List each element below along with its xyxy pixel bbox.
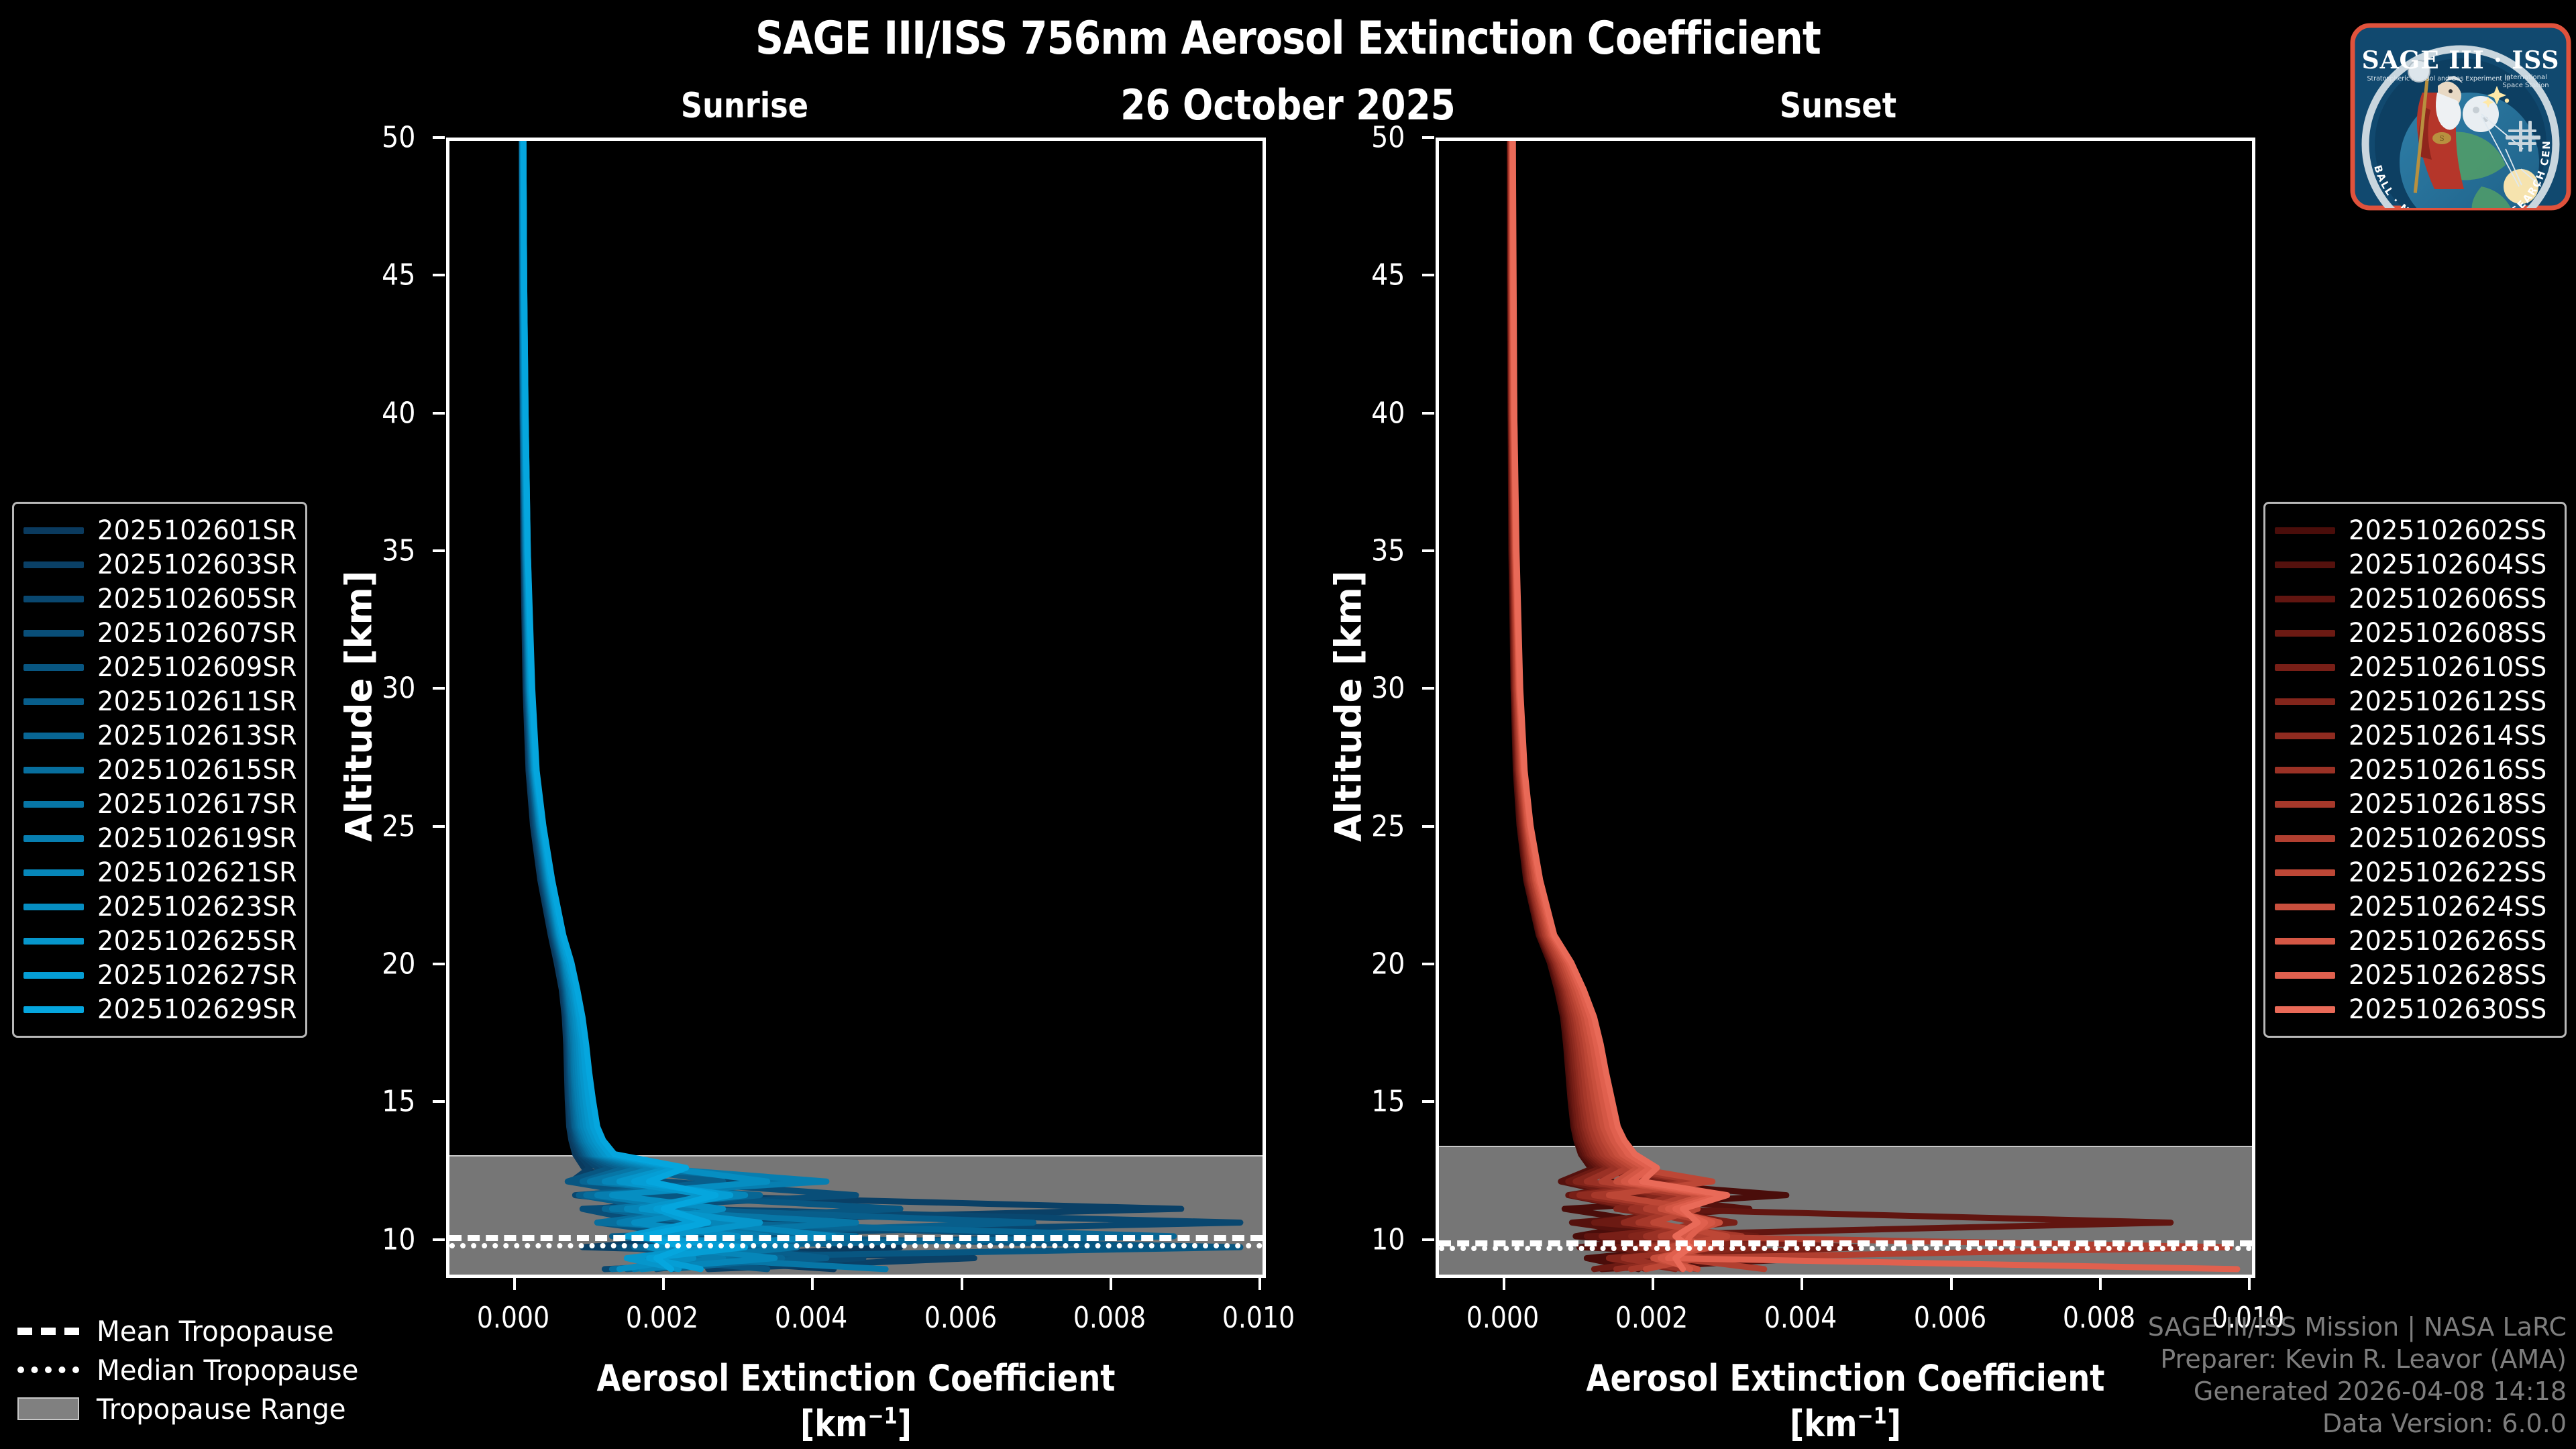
legend-color-swatch (2275, 767, 2335, 773)
x-tick-label: 0.010 (1195, 1301, 1322, 1335)
legend-event-label: 2025102626SS (2349, 926, 2547, 957)
profile-line (1512, 141, 1727, 1269)
profile-line (522, 141, 1181, 1269)
x-tick-label: 0.006 (897, 1301, 1024, 1335)
y-tick-mark (433, 136, 445, 139)
legend-sunset-item[interactable]: 2025102624SS (2275, 890, 2553, 924)
legend-color-swatch (23, 767, 84, 773)
legend-event-label: 2025102628SS (2349, 960, 2547, 991)
legend-item-median-tropopause: Median Tropopause (17, 1350, 366, 1389)
credits-block: SAGE III/ISS Mission | NASA LaRC Prepare… (2148, 1311, 2567, 1440)
y-axis-label: Altitude [km] (338, 574, 380, 842)
x-tick-label: 0.004 (1737, 1301, 1864, 1335)
legend-event-label: 2025102601SR (97, 515, 297, 546)
svg-text:International: International (2504, 74, 2547, 81)
legend-event-label: 2025102607SR (97, 618, 297, 649)
y-tick-mark (1422, 963, 1434, 965)
legend-color-swatch (23, 835, 84, 842)
y-tick-label: 20 (1315, 947, 1405, 981)
legend-sunrise-item[interactable]: 2025102615SR (23, 753, 293, 787)
y-tick-label: 20 (325, 947, 416, 981)
profile-line (522, 141, 1108, 1269)
legend-color-swatch (2275, 801, 2335, 808)
profile-line (1513, 141, 2237, 1269)
legend-event-label: 2025102609SR (97, 652, 297, 683)
y-tick-mark (1422, 825, 1434, 828)
plot-panel-sunrise (446, 138, 1266, 1278)
legend-color-swatch (2275, 596, 2335, 602)
legend-sunrise-item[interactable]: 2025102627SR (23, 958, 293, 992)
legend-sunrise-item[interactable]: 2025102601SR (23, 513, 293, 547)
legend-sunrise-item[interactable]: 2025102603SR (23, 547, 293, 582)
mission-patch-icon: S SAGE III · ISS Stratospheric Aerosol a… (2350, 7, 2571, 228)
legend-sunrise-item[interactable]: 2025102611SR (23, 684, 293, 718)
profile-line (1511, 141, 1742, 1269)
x-axis-label: Aerosol Extinction Coefficient (504, 1357, 1209, 1399)
profile-line (523, 141, 767, 1269)
legend-color-swatch (23, 1006, 84, 1013)
plot-panel-sunset (1436, 138, 2255, 1278)
y-tick-label: 45 (325, 258, 416, 292)
svg-text:Stratospheric Aerosol and Gas: Stratospheric Aerosol and Gas Experiment… (2367, 75, 2510, 83)
y-tick-mark (433, 274, 445, 276)
legend-event-label: 2025102624SS (2349, 892, 2547, 922)
credits-line-mission: SAGE III/ISS Mission | NASA LaRC (2148, 1311, 2567, 1343)
profile-line (523, 141, 715, 1269)
profile-line (523, 141, 760, 1269)
y-tick-mark (433, 687, 445, 690)
legend-sunrise-item[interactable]: 2025102623SR (23, 890, 293, 924)
y-tick-mark (1422, 1100, 1434, 1103)
y-tick-label: 10 (325, 1222, 416, 1256)
x-tick-mark (2099, 1278, 2102, 1290)
x-tick-label: 0.008 (1046, 1301, 1173, 1335)
y-tick-label: 40 (325, 396, 416, 430)
legend-sunset[interactable]: 2025102602SS2025102604SS2025102606SS2025… (2263, 502, 2567, 1038)
y-tick-mark (433, 1100, 445, 1103)
legend-event-label: 2025102627SR (97, 960, 297, 991)
y-tick-mark (433, 549, 445, 552)
legend-sunrise-item[interactable]: 2025102613SR (23, 718, 293, 753)
legend-color-swatch (2275, 527, 2335, 534)
x-tick-label: 0.002 (599, 1301, 726, 1335)
legend-label-tropopause-range: Tropopause Range (97, 1393, 346, 1426)
legend-color-swatch (2275, 664, 2335, 671)
legend-event-label: 2025102623SR (97, 892, 297, 922)
legend-sunrise[interactable]: 2025102601SR2025102603SR2025102605SR2025… (12, 502, 307, 1038)
legend-event-label: 2025102629SR (97, 994, 297, 1025)
y-tick-mark (1422, 549, 1434, 552)
legend-event-label: 2025102612SS (2349, 686, 2547, 717)
legend-sunset-item[interactable]: 2025102604SS (2275, 547, 2553, 582)
x-axis-units-prefix: [km (1790, 1403, 1857, 1445)
legend-event-label: 2025102611SR (97, 686, 297, 717)
legend-sunset-item[interactable]: 2025102614SS (2275, 718, 2553, 753)
legend-sunset-item[interactable]: 2025102622SS (2275, 855, 2553, 890)
y-tick-mark (1422, 1238, 1434, 1241)
sage-iii-iss-logo: S SAGE III · ISS Stratospheric Aerosol a… (2350, 7, 2571, 228)
legend-event-label: 2025102615SR (97, 755, 297, 786)
legend-sunrise-item[interactable]: 2025102605SR (23, 582, 293, 616)
legend-sunrise-item[interactable]: 2025102607SR (23, 616, 293, 650)
legend-sunrise-item[interactable]: 2025102609SR (23, 650, 293, 684)
legend-color-swatch (2275, 972, 2335, 979)
y-tick-label: 50 (325, 121, 416, 155)
x-tick-mark (1503, 1278, 1505, 1290)
y-tick-label: 35 (1315, 533, 1405, 568)
panel-title-sunrise: Sunrise (641, 86, 849, 126)
x-tick-label: 0.002 (1589, 1301, 1715, 1335)
x-tick-label: 0.000 (449, 1301, 576, 1335)
profile-line (522, 141, 1033, 1269)
credits-line-preparer: Preparer: Kevin R. Leavor (AMA) (2148, 1343, 2567, 1375)
profile-lines-sunrise (449, 141, 1263, 1275)
dotted-line-icon (17, 1366, 82, 1373)
legend-sunrise-item[interactable]: 2025102621SR (23, 855, 293, 890)
legend-event-label: 2025102613SR (97, 720, 297, 751)
profile-line (1511, 141, 1727, 1269)
page-title: SAGE III/ISS 756nm Aerosol Extinction Co… (180, 12, 2396, 65)
x-tick-mark (1258, 1278, 1261, 1290)
y-tick-label: 40 (1315, 396, 1405, 430)
legend-sunset-item[interactable]: 2025102608SS (2275, 616, 2553, 650)
legend-event-label: 2025102602SS (2349, 515, 2547, 546)
y-tick-label: 10 (1315, 1222, 1405, 1256)
legend-color-swatch (2275, 698, 2335, 705)
profile-line (1512, 141, 1720, 1269)
svg-text:S: S (2439, 134, 2445, 143)
legend-color-swatch (23, 733, 84, 739)
legend-sunset-item[interactable]: 2025102628SS (2275, 958, 2553, 992)
mean-tropopause-line-left (449, 1235, 1263, 1241)
legend-color-swatch (2275, 904, 2335, 910)
profile-line (1510, 141, 1786, 1269)
legend-event-label: 2025102604SS (2349, 549, 2547, 580)
x-axis-units-exponent: −1 (868, 1403, 898, 1429)
legend-event-label: 2025102606SS (2349, 584, 2547, 614)
legend-color-swatch (23, 596, 84, 602)
legend-event-label: 2025102610SS (2349, 652, 2547, 683)
x-axis-label-units: [km−1] (504, 1403, 1209, 1445)
legend-sunset-item[interactable]: 2025102610SS (2275, 650, 2553, 684)
legend-label-mean-tropopause: Mean Tropopause (97, 1315, 334, 1348)
legend-sunset-item[interactable]: 2025102616SS (2275, 753, 2553, 787)
legend-event-label: 2025102608SS (2349, 618, 2547, 649)
legend-color-swatch (23, 904, 84, 910)
legend-event-label: 2025102617SR (97, 789, 297, 820)
legend-event-label: 2025102618SS (2349, 789, 2547, 820)
legend-sunset-item[interactable]: 2025102626SS (2275, 924, 2553, 958)
x-tick-mark (1950, 1278, 1953, 1290)
legend-sunset-item[interactable]: 2025102602SS (2275, 513, 2553, 547)
page-subtitle-date: 26 October 2025 (180, 80, 2396, 129)
x-tick-mark (1801, 1278, 1803, 1290)
x-tick-mark (1110, 1278, 1112, 1290)
legend-color-swatch (2275, 561, 2335, 568)
profile-line (523, 141, 1174, 1269)
legend-event-label: 2025102603SR (97, 549, 297, 580)
profile-line (1511, 141, 1720, 1269)
legend-color-swatch (2275, 835, 2335, 842)
credits-line-generated: Generated 2026-04-08 14:18 (2148, 1375, 2567, 1407)
legend-event-label: 2025102620SS (2349, 823, 2547, 854)
legend-color-swatch (2275, 630, 2335, 637)
y-tick-label: 15 (325, 1085, 416, 1119)
y-axis-label: Altitude [km] (1328, 574, 1370, 842)
x-tick-mark (2248, 1278, 2251, 1290)
x-axis-units-exponent: −1 (1858, 1403, 1887, 1429)
credits-line-version: Data Version: 6.0.0 (2148, 1407, 2567, 1440)
legend-sunset-item[interactable]: 2025102618SS (2275, 787, 2553, 821)
legend-color-swatch (23, 938, 84, 945)
profile-line (1511, 141, 1764, 1269)
legend-event-label: 2025102622SS (2349, 857, 2547, 888)
y-tick-mark (433, 412, 445, 415)
x-axis-units-suffix: ] (898, 1403, 912, 1445)
profile-line (1511, 141, 1860, 1269)
y-tick-mark (1422, 687, 1434, 690)
y-tick-mark (433, 825, 445, 828)
legend-label-median-tropopause: Median Tropopause (97, 1354, 358, 1387)
x-tick-label: 0.000 (1439, 1301, 1566, 1335)
legend-color-swatch (23, 801, 84, 808)
profile-line (1510, 141, 1816, 1269)
profile-lines-sunset (1439, 141, 2252, 1275)
legend-event-label: 2025102621SR (97, 857, 297, 888)
profile-line (523, 141, 856, 1269)
x-axis-label: Aerosol Extinction Coefficient (1493, 1357, 2198, 1399)
legend-color-swatch (2275, 733, 2335, 739)
svg-text:SAGE III · ISS: SAGE III · ISS (2362, 46, 2560, 74)
legend-sunrise-item[interactable]: 2025102617SR (23, 787, 293, 821)
y-tick-mark (1422, 274, 1434, 276)
legend-sunset-item[interactable]: 2025102620SS (2275, 821, 2553, 855)
x-axis-units-prefix: [km (800, 1403, 867, 1445)
x-axis-label-units: [km−1] (1493, 1403, 2198, 1445)
profile-line (1511, 141, 2230, 1269)
legend-color-swatch (2275, 938, 2335, 945)
legend-event-label: 2025102630SS (2349, 994, 2547, 1025)
y-tick-mark (1422, 136, 1434, 139)
x-tick-mark (961, 1278, 963, 1290)
legend-event-label: 2025102619SR (97, 823, 297, 854)
x-tick-mark (513, 1278, 516, 1290)
legend-color-swatch (23, 527, 84, 534)
legend-sunrise-item[interactable]: 2025102619SR (23, 821, 293, 855)
profile-line (523, 141, 1240, 1269)
legend-event-label: 2025102625SR (97, 926, 297, 957)
legend-event-label: 2025102616SS (2349, 755, 2547, 786)
legend-sunset-item[interactable]: 2025102630SS (2275, 992, 2553, 1026)
profile-line (1513, 141, 1727, 1269)
legend-color-swatch (23, 698, 84, 705)
x-tick-label: 0.008 (2035, 1301, 2162, 1335)
legend-color-swatch (23, 972, 84, 979)
x-tick-label: 0.004 (748, 1301, 875, 1335)
y-tick-label: 50 (1315, 121, 1405, 155)
median-tropopause-line-left (449, 1243, 1263, 1248)
legend-sunset-item[interactable]: 2025102606SS (2275, 582, 2553, 616)
legend-sunset-item[interactable]: 2025102612SS (2275, 684, 2553, 718)
legend-sunrise-item[interactable]: 2025102629SR (23, 992, 293, 1026)
x-tick-mark (662, 1278, 665, 1290)
legend-item-tropopause-range: Tropopause Range (17, 1389, 366, 1428)
y-tick-mark (433, 1238, 445, 1241)
legend-color-swatch (23, 630, 84, 637)
legend-color-swatch (23, 869, 84, 876)
tropopause-legend: Mean Tropopause Median Tropopause Tropop… (17, 1311, 366, 1428)
legend-sunrise-item[interactable]: 2025102625SR (23, 924, 293, 958)
dashed-line-icon (17, 1328, 82, 1335)
svg-text:Space Station: Space Station (2502, 82, 2548, 89)
profile-line (523, 141, 1240, 1269)
x-axis-units-suffix: ] (1887, 1403, 1901, 1445)
panel-title-sunset: Sunset (1734, 86, 1942, 126)
legend-event-label: 2025102605SR (97, 584, 297, 614)
filled-box-icon (17, 1397, 82, 1420)
y-tick-label: 45 (1315, 258, 1405, 292)
y-tick-label: 35 (325, 533, 416, 568)
legend-color-swatch (2275, 869, 2335, 876)
legend-item-mean-tropopause: Mean Tropopause (17, 1311, 366, 1350)
x-tick-mark (811, 1278, 814, 1290)
y-tick-mark (433, 963, 445, 965)
x-tick-label: 0.006 (1886, 1301, 2013, 1335)
legend-color-swatch (23, 664, 84, 671)
y-tick-label: 15 (1315, 1085, 1405, 1119)
profile-line (1511, 141, 1757, 1269)
median-tropopause-line-right (1439, 1246, 2252, 1251)
legend-color-swatch (23, 561, 84, 568)
profile-line (523, 141, 745, 1269)
legend-color-swatch (2275, 1006, 2335, 1013)
legend-event-label: 2025102614SS (2349, 720, 2547, 751)
x-tick-mark (1652, 1278, 1654, 1290)
y-tick-mark (1422, 412, 1434, 415)
